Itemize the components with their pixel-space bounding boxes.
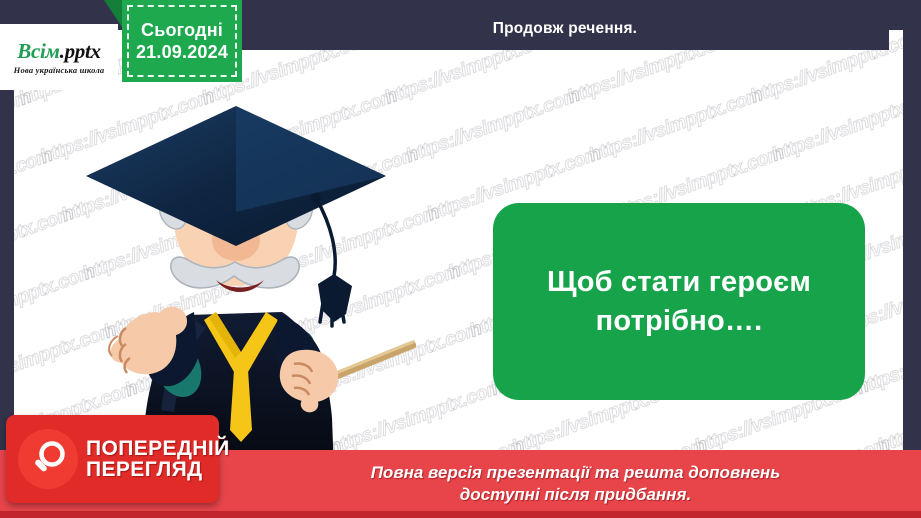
- watermark-text: https://vsimpptx.com: [14, 211, 67, 320]
- date-badge: Сьогодні 21.09.2024: [122, 0, 242, 82]
- watermark-text: https://vsimpptx.com: [14, 94, 25, 203]
- brand-logo-name: Всім.pptx: [17, 39, 100, 64]
- page-title: Продовж речення.: [493, 20, 637, 38]
- preview-badge-line2: ПЕРЕГЛЯД: [86, 459, 230, 480]
- green-statement-box: Щоб стати героєм потрібно….: [493, 203, 865, 400]
- header-bar: Продовж речення.: [241, 7, 889, 50]
- search-icon: [28, 439, 68, 479]
- brand-logo: Всім.pptx Нова українська школа: [0, 24, 118, 90]
- preview-badge-labels: ПОПЕРЕДНІЙ ПЕРЕГЛЯД: [86, 438, 230, 480]
- date-badge-label: Сьогодні: [141, 20, 223, 40]
- brand-logo-tagline: Нова українська школа: [14, 65, 105, 75]
- brand-logo-suffix: .pptx: [60, 39, 101, 63]
- preview-badge[interactable]: ПОПЕРЕДНІЙ ПЕРЕГЛЯД: [6, 415, 219, 503]
- purchase-notice-line1: Повна версія презентації та решта доповн…: [371, 462, 781, 484]
- purchase-notice-line2: доступні після придбання.: [371, 484, 781, 506]
- watermark-text: https://vsimpptx.com: [14, 152, 46, 261]
- preview-badge-line1: ПОПЕРЕДНІЙ: [86, 438, 230, 459]
- purchase-notice-text: Повна версія презентації та решта доповн…: [141, 462, 781, 506]
- green-statement-text: Щоб стати героєм потрібно….: [515, 263, 843, 340]
- watermark-text: https://vsimpptx.com: [565, 34, 735, 143]
- brand-logo-prefix: Всім: [17, 39, 59, 63]
- magnifier-icon-circle: [18, 429, 78, 489]
- slide-root: Щоб стати героєм потрібно…. https://vsim…: [0, 0, 921, 518]
- date-badge-date: 21.09.2024: [136, 42, 228, 62]
- watermark-text: https://vsimpptx.com: [403, 93, 573, 202]
- watermark-text: https://vsimpptx.com: [586, 92, 756, 201]
- watermark-text: https://vsimpptx.com: [769, 91, 903, 200]
